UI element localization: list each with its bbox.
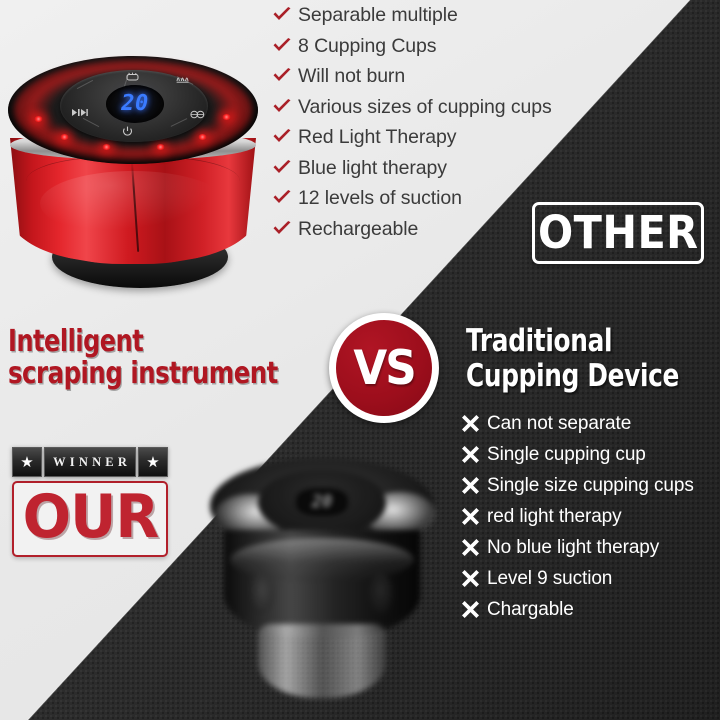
list-item-label: Chargable <box>487 600 574 619</box>
x-icon <box>462 569 487 587</box>
vs-badge: VS <box>329 313 439 423</box>
dark-device-suction-cup <box>258 624 386 698</box>
dark-device-dimple-right <box>368 574 394 614</box>
check-icon <box>272 6 298 23</box>
led-indicator <box>102 144 111 150</box>
led-indicator <box>198 134 207 140</box>
x-icon <box>462 414 487 432</box>
list-item-label: No blue light therapy <box>487 538 659 557</box>
dark-device-dimple-left <box>248 574 274 614</box>
list-item-label: 8 Cupping Cups <box>298 37 436 57</box>
heat-mode-icon[interactable] <box>126 72 139 84</box>
list-item: 12 levels of suction <box>272 189 552 209</box>
winner-label: WINNER <box>49 455 131 470</box>
x-icon <box>462 445 487 463</box>
play-pause-icon[interactable] <box>72 108 88 119</box>
winner-ribbon-center: WINNER <box>44 447 136 477</box>
left-title-line-2: scraping instrument <box>8 358 272 391</box>
list-item-label: Various sizes of cupping cups <box>298 98 552 118</box>
led-indicator <box>60 134 69 140</box>
x-icon <box>462 507 487 525</box>
list-item: Level 9 suction <box>462 569 694 588</box>
check-icon <box>272 128 298 145</box>
star-icon: ★ <box>20 455 33 470</box>
winner-ribbon: ★ WINNER ★ <box>12 447 168 477</box>
right-title-line-2: Cupping Device <box>466 359 679 394</box>
list-item: Chargable <box>462 600 694 619</box>
check-icon <box>272 37 298 54</box>
list-item: Red Light Therapy <box>272 128 552 148</box>
winner-badge: ★ WINNER ★ OUR <box>12 447 172 557</box>
list-item-label: Rechargeable <box>298 220 418 240</box>
right-product-title: Traditional Cupping Device <box>466 324 679 394</box>
list-item: 8 Cupping Cups <box>272 37 552 57</box>
check-icon <box>272 67 298 84</box>
our-badge: OUR <box>12 481 168 557</box>
list-item: No blue light therapy <box>462 538 694 557</box>
star-box-right: ★ <box>138 447 168 477</box>
other-badge: OTHER <box>532 202 704 264</box>
list-item-label: Separable multiple <box>298 6 458 26</box>
list-item-label: Level 9 suction <box>487 569 612 588</box>
list-item-label: Single size cupping cups <box>487 476 694 495</box>
display-value: 20 <box>121 93 149 115</box>
device-led-display: 20 <box>106 85 164 123</box>
list-item: red light therapy <box>462 507 694 526</box>
list-item-label: 12 levels of suction <box>298 189 462 209</box>
list-item: Single cupping cup <box>462 445 694 464</box>
list-item-label: Will not burn <box>298 67 405 87</box>
star-icon: ★ <box>146 455 159 470</box>
panel-divider <box>83 118 99 127</box>
infographic-stage: 20 Separable multiple 8 Cupping Cups Wil… <box>0 0 720 720</box>
product-image-traditional-cupping-device: 20 <box>196 452 448 702</box>
cons-feature-list: Can not separate Single cupping cup Sing… <box>462 414 694 631</box>
star-box-left: ★ <box>12 447 42 477</box>
led-indicator <box>222 114 231 120</box>
list-item: Can not separate <box>462 414 694 433</box>
dark-device-led-display: 20 <box>296 488 348 516</box>
check-icon <box>272 159 298 176</box>
right-title-line-1: Traditional <box>466 324 679 359</box>
vs-badge-circle: VS <box>336 320 432 416</box>
list-item-label: Blue light therapy <box>298 159 447 179</box>
check-icon <box>272 98 298 115</box>
check-icon <box>272 189 298 206</box>
dark-display-value: 20 <box>312 494 332 511</box>
list-item: Various sizes of cupping cups <box>272 98 552 118</box>
list-item: Separable multiple <box>272 6 552 26</box>
list-item: Rechargeable <box>272 220 552 240</box>
led-indicator <box>156 144 165 150</box>
our-badge-label: OUR <box>22 487 158 547</box>
list-item: Will not burn <box>272 67 552 87</box>
vibration-waves-icon[interactable] <box>176 74 190 85</box>
x-icon <box>462 476 487 494</box>
list-item-label: red light therapy <box>487 507 622 526</box>
check-icon <box>272 220 298 237</box>
power-icon[interactable] <box>122 126 133 139</box>
left-title-line-1: Intelligent <box>8 326 272 358</box>
x-icon <box>462 600 487 618</box>
panel-divider <box>77 80 93 89</box>
list-item-label: Can not separate <box>487 414 631 433</box>
led-indicator <box>34 116 43 122</box>
left-product-title: Intelligent scraping instrument <box>8 326 272 391</box>
list-item-label: Red Light Therapy <box>298 128 456 148</box>
dual-cup-icon[interactable] <box>190 110 205 121</box>
list-item: Blue light therapy <box>272 159 552 179</box>
product-image-intelligent-scraping-instrument: 20 <box>4 30 262 292</box>
panel-divider <box>171 118 188 127</box>
other-badge-label: OTHER <box>538 210 699 255</box>
x-icon <box>462 538 487 556</box>
vs-label: VS <box>353 345 415 392</box>
pros-feature-list: Separable multiple 8 Cupping Cups Will n… <box>272 6 552 250</box>
list-item: Single size cupping cups <box>462 476 694 495</box>
list-item-label: Single cupping cup <box>487 445 646 464</box>
